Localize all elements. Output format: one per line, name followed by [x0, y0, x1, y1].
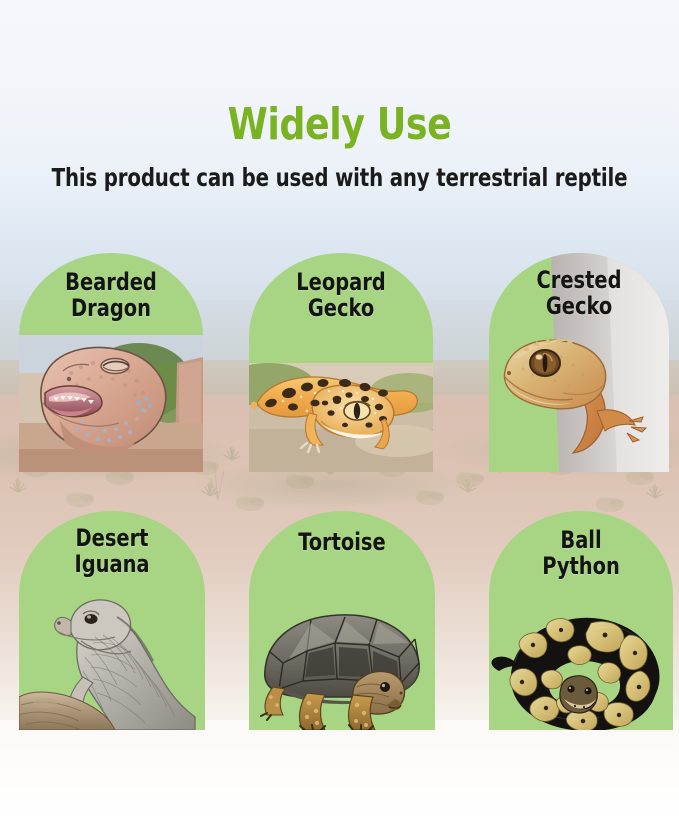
- heading-block: Widely Use This product can be used with…: [0, 0, 679, 192]
- bottom-fade: [0, 720, 679, 820]
- card-label: Tortoise: [258, 529, 425, 555]
- card-label: Crested Gecko: [498, 267, 660, 319]
- page-subtitle: This product can be used with any terres…: [41, 148, 639, 192]
- card-label: Leopard Gecko: [258, 269, 424, 321]
- card-label: Bearded Dragon: [28, 269, 194, 321]
- card-label: Ball Python: [498, 527, 664, 579]
- widely-use-infographic: Widely Use This product can be used with…: [0, 0, 679, 820]
- card-label: Desert Iguana: [28, 525, 195, 577]
- reptile-card-bearded-dragon[interactable]: Bearded Dragon: [19, 253, 203, 472]
- reptile-card-leopard-gecko[interactable]: Leopard Gecko: [249, 253, 433, 472]
- page-title: Widely Use: [27, 0, 652, 148]
- reptile-card-crested-gecko[interactable]: Crested Gecko: [489, 253, 669, 472]
- reptile-card-desert-iguana[interactable]: Desert Iguana: [19, 511, 205, 730]
- reptile-card-tortoise[interactable]: Tortoise: [249, 511, 435, 730]
- reptile-card-ball-python[interactable]: Ball Python: [489, 511, 673, 730]
